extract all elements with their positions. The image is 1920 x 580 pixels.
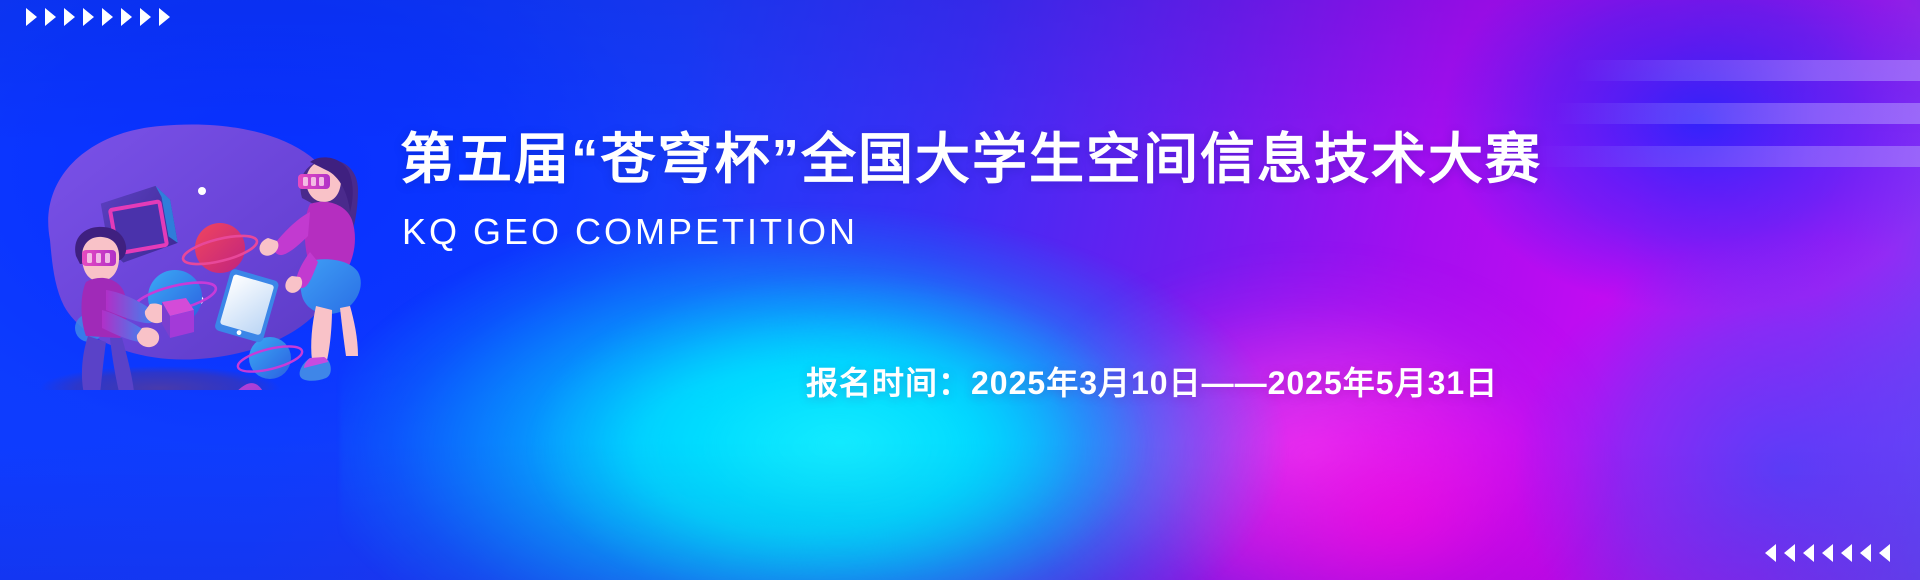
- arrow-right-icon: [83, 8, 94, 26]
- decor-stripe-2: [1555, 103, 1920, 124]
- banner-title-english: KQ GEO COMPETITION: [402, 212, 1900, 252]
- arrow-left-icon: [1784, 544, 1795, 562]
- arrow-right-icon: [102, 8, 113, 26]
- arrow-left-icon: [1803, 544, 1814, 562]
- arrow-right-icon: [45, 8, 56, 26]
- arrow-right-icon: [26, 8, 37, 26]
- arrow-row-bottom-right: [1765, 544, 1890, 562]
- arrow-left-icon: [1841, 544, 1852, 562]
- arrow-left-icon: [1765, 544, 1776, 562]
- registration-period-text: 报名时间：2025年3月10日——2025年5月31日: [806, 358, 1498, 404]
- arrow-left-icon: [1860, 544, 1871, 562]
- arrow-right-icon: [64, 8, 75, 26]
- vr-students-space-illustration: [10, 70, 370, 390]
- banner-text-block: 第五届“苍穹杯”全国大学生空间信息技术大赛 KQ GEO COMPETITION: [400, 128, 1900, 251]
- arrow-right-icon: [159, 8, 170, 26]
- arrow-left-icon: [1822, 544, 1833, 562]
- arrow-left-icon: [1879, 544, 1890, 562]
- arrow-right-icon: [121, 8, 132, 26]
- illustration-small-cube: [162, 298, 194, 338]
- banner-title-chinese: 第五届“苍穹杯”全国大学生空间信息技术大赛: [400, 128, 1900, 192]
- arrow-row-top-left: [26, 8, 170, 26]
- decor-stripe-1: [1575, 60, 1920, 81]
- arrow-right-icon: [140, 8, 151, 26]
- competition-banner: 第五届“苍穹杯”全国大学生空间信息技术大赛 KQ GEO COMPETITION…: [0, 0, 1920, 580]
